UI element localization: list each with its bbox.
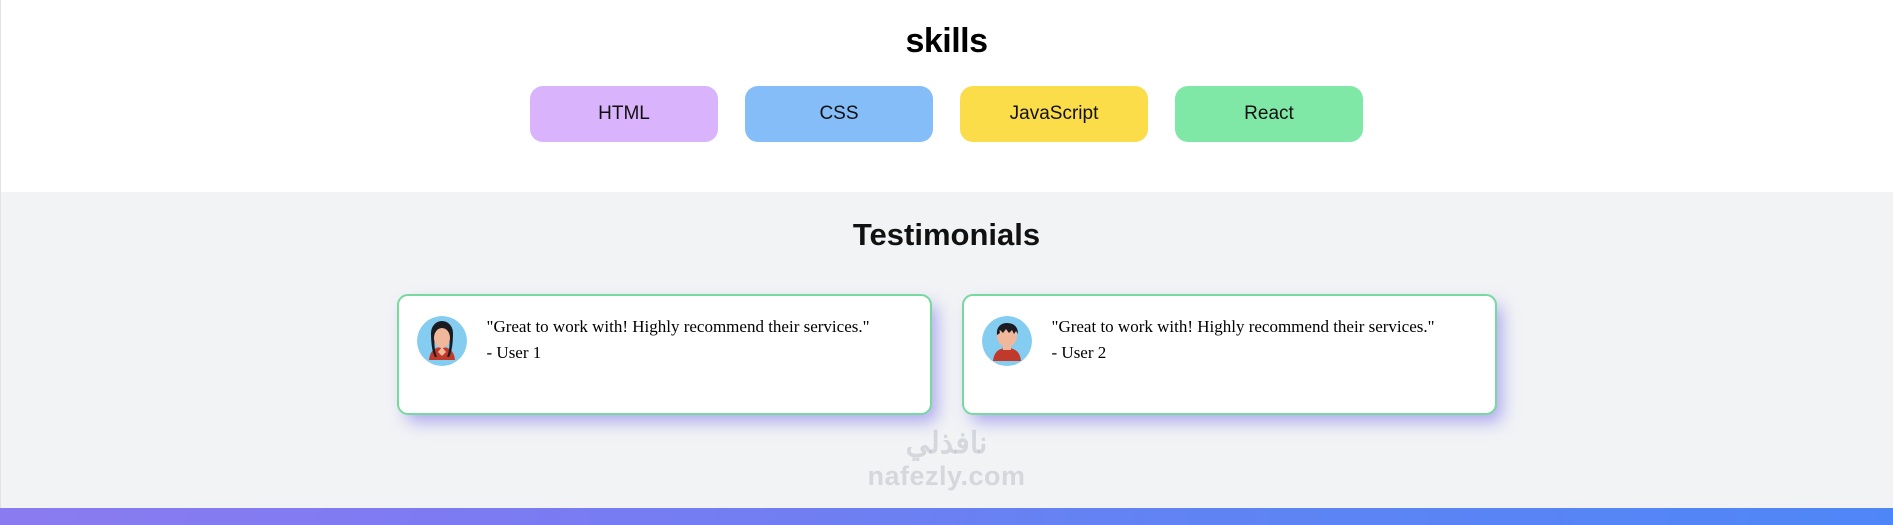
watermark-url-text: nafezly.com — [0, 461, 1893, 491]
testimonials-section: Testimonials "Great to work with! Highly… — [0, 192, 1893, 508]
skill-pill-javascript[interactable]: JavaScript — [960, 86, 1148, 142]
skills-title: skills — [0, 18, 1893, 64]
skill-pill-label: JavaScript — [1010, 103, 1099, 125]
testimonial-card: "Great to work with! Highly recommend th… — [962, 294, 1497, 415]
testimonials-title: Testimonials — [0, 214, 1893, 256]
watermark: نافذلي nafezly.com — [0, 427, 1893, 491]
testimonial-quote: "Great to work with! Highly recommend th… — [487, 314, 870, 339]
skills-list: HTML CSS JavaScript React — [0, 86, 1893, 142]
testimonials-list: "Great to work with! Highly recommend th… — [0, 294, 1893, 415]
testimonial-content: "Great to work with! Highly recommend th… — [1052, 312, 1435, 365]
skill-pill-label: React — [1244, 103, 1294, 125]
female-avatar-icon — [417, 316, 467, 366]
skill-pill-html[interactable]: HTML — [530, 86, 718, 142]
testimonial-quote: "Great to work with! Highly recommend th… — [1052, 314, 1435, 339]
testimonial-content: "Great to work with! Highly recommend th… — [487, 312, 870, 365]
testimonial-author: - User 1 — [487, 340, 870, 365]
skill-pill-label: CSS — [819, 103, 858, 125]
bottom-gradient-bar — [0, 508, 1893, 525]
male-avatar-icon — [982, 316, 1032, 366]
testimonial-author: - User 2 — [1052, 340, 1435, 365]
watermark-arabic-text: نافذلي — [0, 427, 1893, 461]
skill-pill-css[interactable]: CSS — [745, 86, 933, 142]
skill-pill-react[interactable]: React — [1175, 86, 1363, 142]
skill-pill-label: HTML — [598, 103, 650, 125]
skills-section: skills HTML CSS JavaScript React — [0, 0, 1893, 192]
page-left-edge — [0, 0, 1, 508]
testimonial-card: "Great to work with! Highly recommend th… — [397, 294, 932, 415]
